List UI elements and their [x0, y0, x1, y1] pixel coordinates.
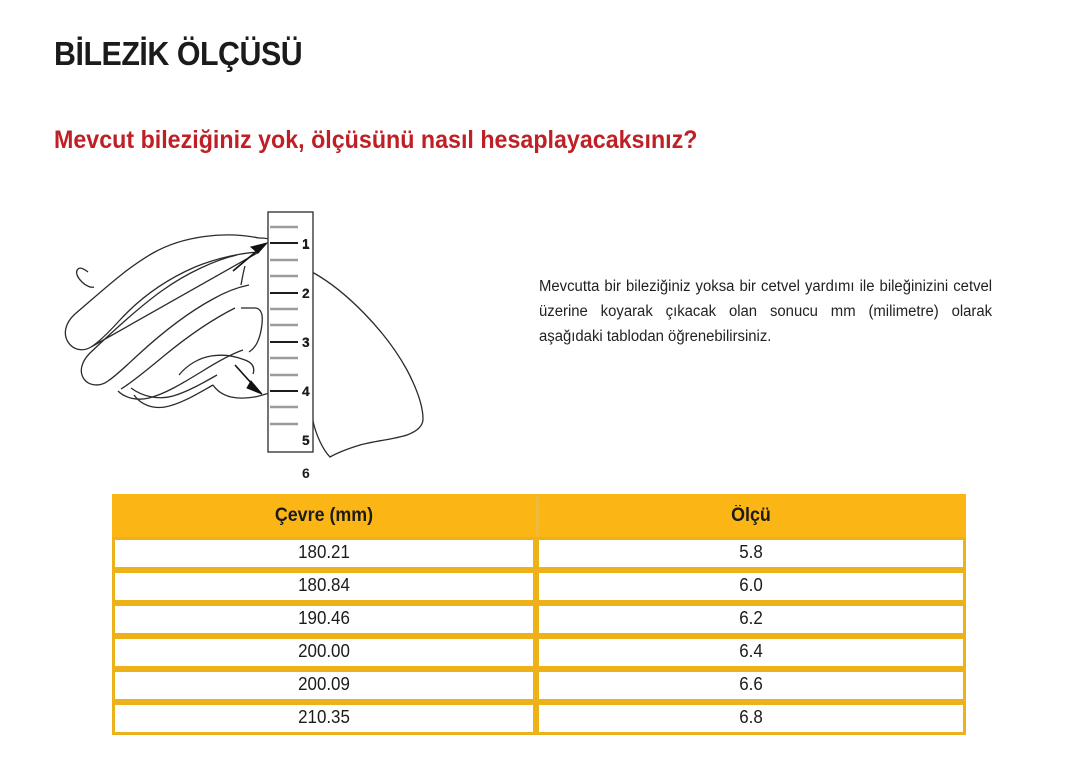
cell-circumference-text: 180.84 — [128, 575, 521, 596]
cell-circumference-text: 190.46 — [128, 608, 521, 629]
ruler-label-1: 1 — [302, 236, 309, 251]
table-header-row: Çevre (mm) Ölçü — [112, 494, 966, 537]
table-row: 190.46 6.2 — [112, 603, 966, 636]
table-row: 200.00 6.4 — [112, 636, 966, 669]
table-header-circumference: Çevre (mm) — [112, 494, 536, 537]
table-header-circumference-text: Çevre (mm) — [128, 505, 521, 527]
ruler-label-3: 3 — [302, 335, 309, 350]
cell-size: 6.2 — [536, 603, 966, 636]
cell-size: 6.0 — [536, 570, 966, 603]
bracelet-size-table: Çevre (mm) Ölçü 180.21 5.8 180.84 6.0 19… — [112, 494, 966, 735]
ruler-label-2: 2 — [302, 286, 309, 301]
cell-size-text: 6.2 — [552, 608, 951, 629]
cell-circumference-text: 200.00 — [128, 641, 521, 662]
cell-circumference-text: 180.21 — [128, 542, 521, 563]
cell-size-text: 6.8 — [552, 707, 951, 728]
cell-circumference: 200.09 — [112, 669, 536, 702]
cell-circumference: 180.21 — [112, 537, 536, 570]
table-row: 200.09 6.6 — [112, 669, 966, 702]
cell-circumference-text: 210.35 — [128, 707, 521, 728]
cell-size-text: 6.6 — [552, 674, 951, 695]
cell-size-text: 6.0 — [552, 575, 951, 596]
hand-outline — [65, 235, 291, 408]
cell-size: 6.8 — [536, 702, 966, 735]
table-row: 210.35 6.8 — [112, 702, 966, 735]
table-row: 180.84 6.0 — [112, 570, 966, 603]
ruler-label-5: 5 — [302, 433, 309, 448]
page-subtitle: Mevcut bileziğiniz yok, ölçüsünü nasıl h… — [54, 124, 697, 156]
ruler-label-4: 4 — [302, 384, 310, 399]
page-title: BİLEZİK ÖLÇÜSÜ — [54, 34, 302, 74]
cell-size-text: 6.4 — [552, 641, 951, 662]
table-header-size: Ölçü — [536, 494, 966, 537]
cell-size: 6.4 — [536, 636, 966, 669]
cell-circumference: 180.84 — [112, 570, 536, 603]
cell-circumference-text: 200.09 — [128, 674, 521, 695]
table-header-size-text: Ölçü — [552, 505, 951, 527]
cell-circumference: 190.46 — [112, 603, 536, 636]
table-row: 180.21 5.8 — [112, 537, 966, 570]
hand-ruler-illustration: 1 2 3 4 5 6 — [55, 195, 445, 475]
cell-circumference: 200.00 — [112, 636, 536, 669]
cell-circumference: 210.35 — [112, 702, 536, 735]
intro-paragraph: Mevcutta bir bileziğiniz yoksa bir cetve… — [539, 274, 992, 349]
arrow-up-icon — [233, 243, 267, 271]
hand-ruler-svg: 1 2 3 4 5 6 — [55, 195, 445, 475]
cell-size: 6.6 — [536, 669, 966, 702]
cell-size: 5.8 — [536, 537, 966, 570]
arrow-down-icon — [235, 365, 262, 394]
cell-size-text: 5.8 — [552, 542, 951, 563]
